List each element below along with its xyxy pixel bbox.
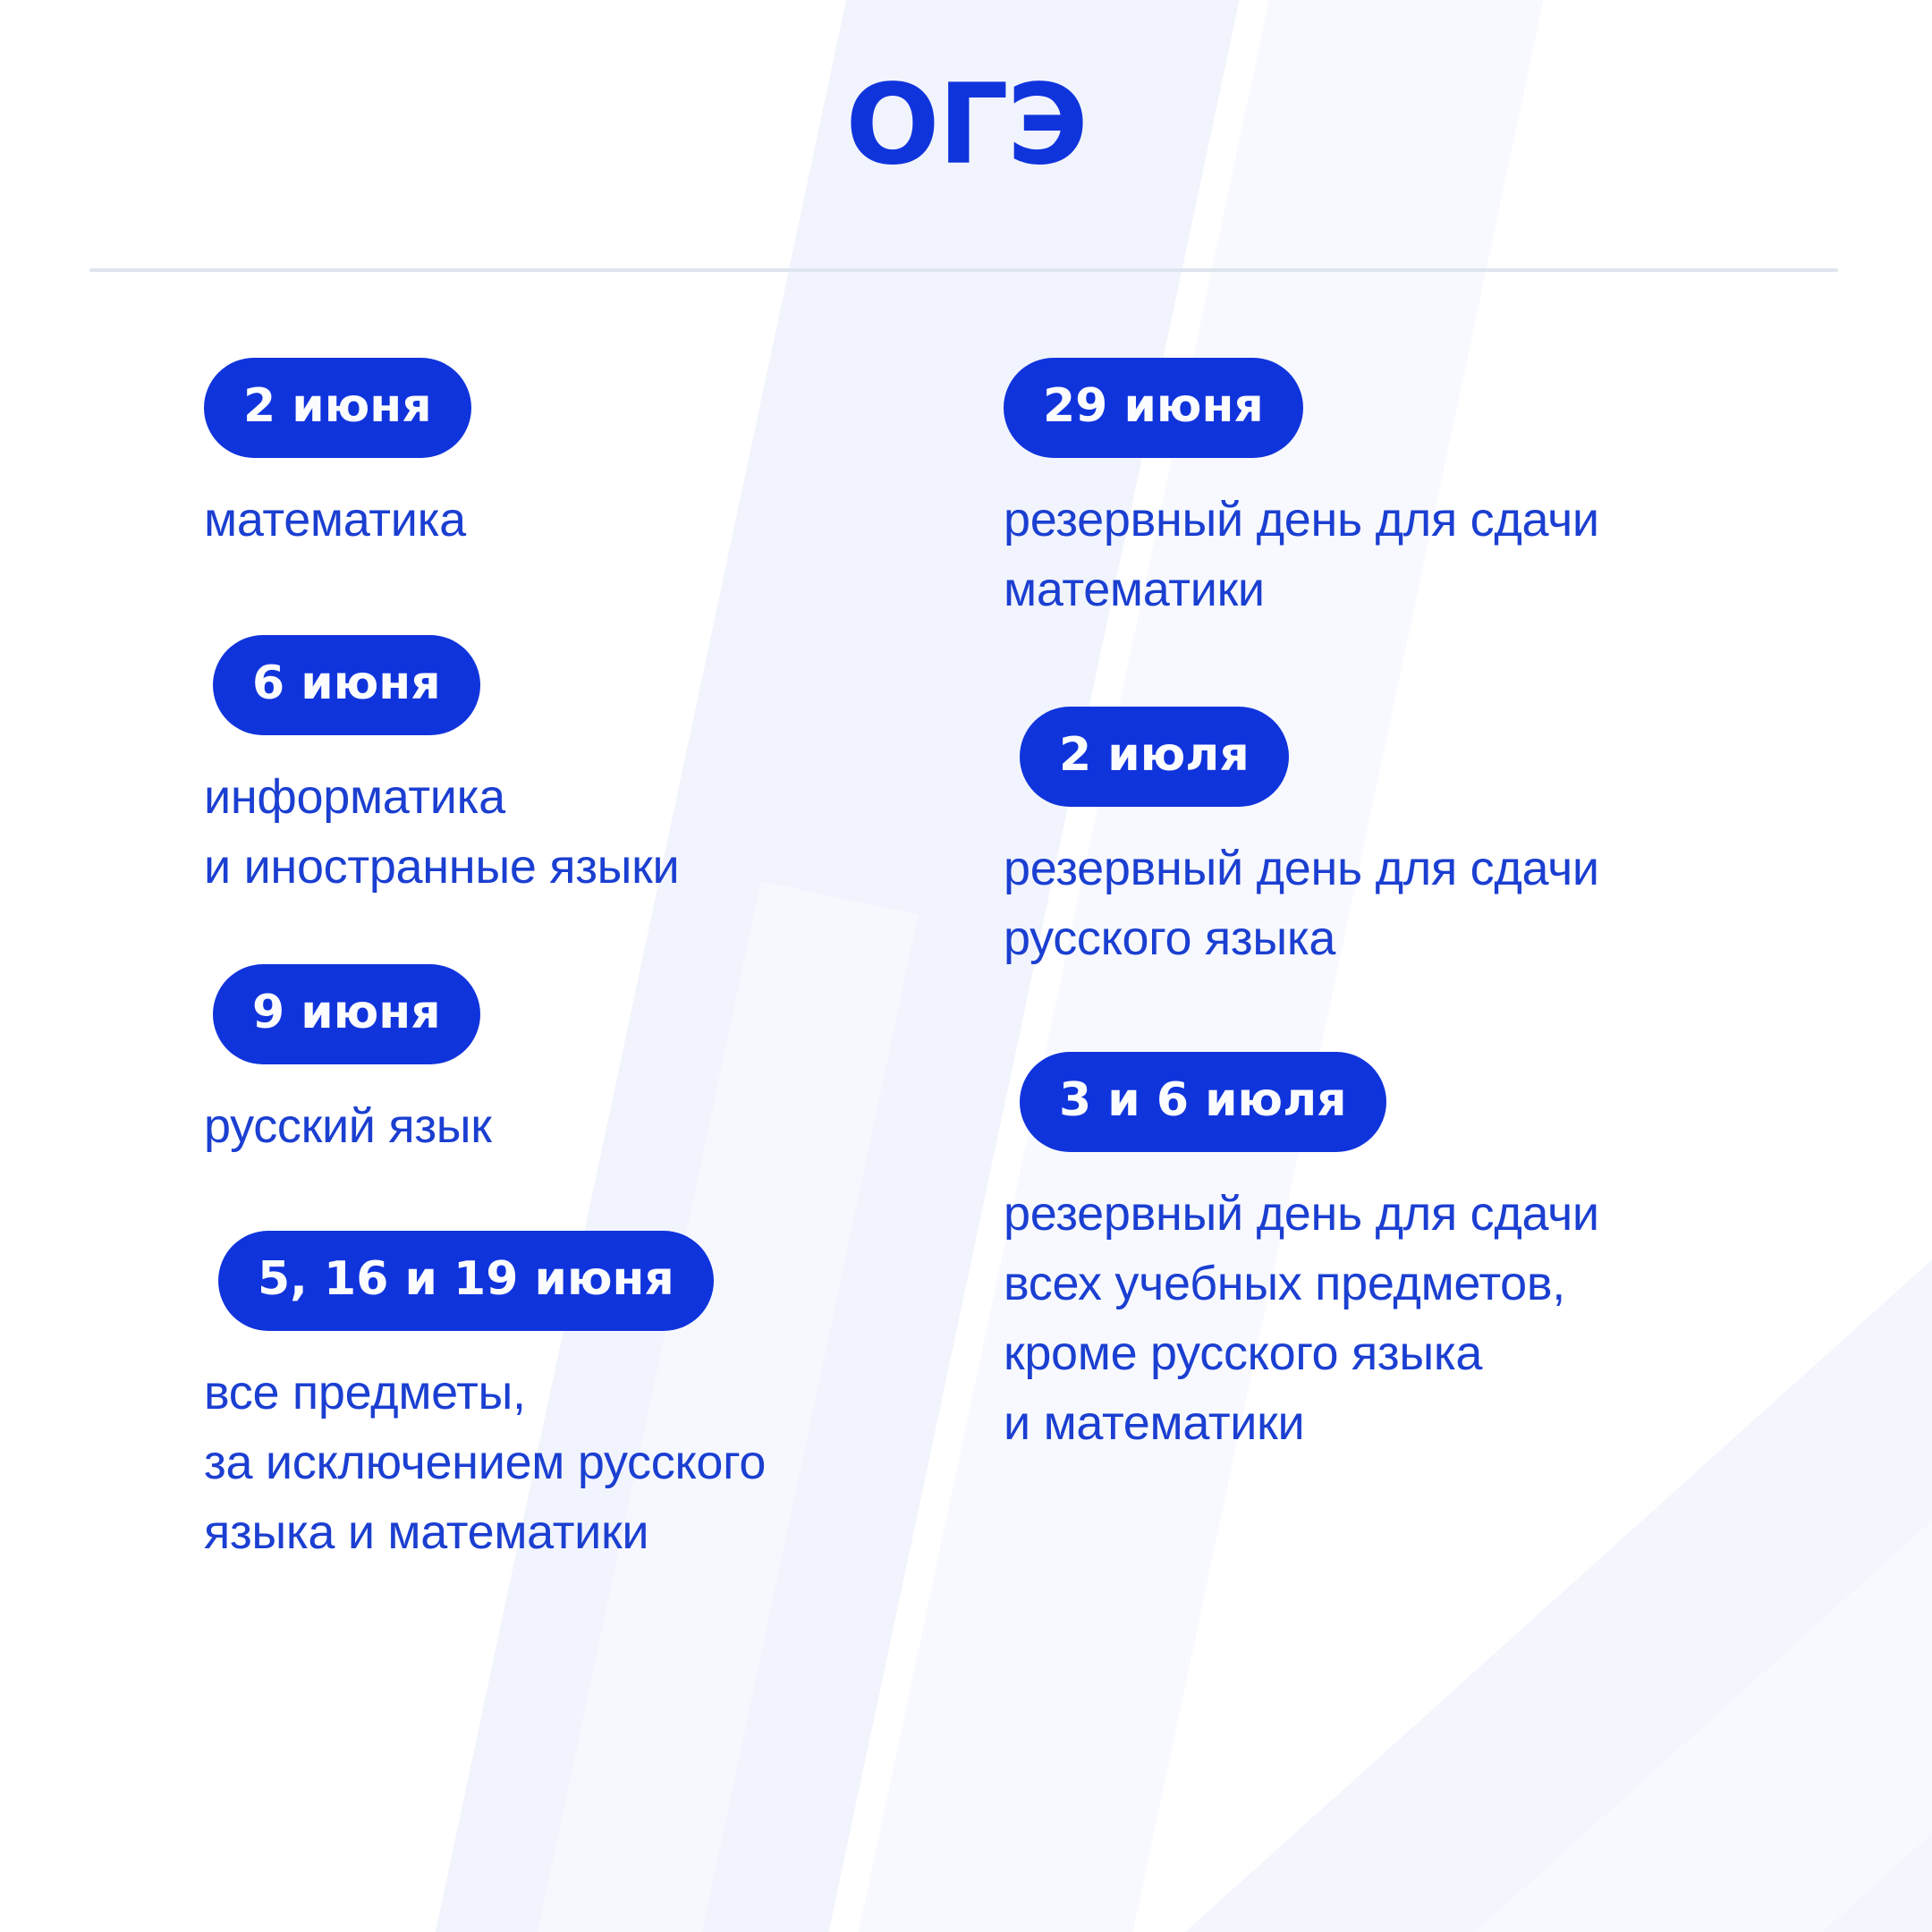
- subject-description: резервный день для сдачи математики: [1004, 485, 1746, 624]
- schedule-entry: 29 июня резервный день для сдачи математ…: [1004, 358, 1746, 624]
- schedule-entry: 9 июня русский язык: [213, 964, 919, 1161]
- schedule-entry: 2 июля резервный день для сдачи русского…: [1020, 707, 1746, 973]
- date-badge[interactable]: 9 июня: [213, 964, 480, 1064]
- poster-header: ОГЭ: [0, 0, 1932, 268]
- subject-description: все предметы, за исключением русского яз…: [204, 1358, 919, 1567]
- schedule-column-right: 29 июня резервный день для сдачи математ…: [1004, 358, 1746, 1458]
- date-badge[interactable]: 6 июня: [213, 635, 480, 735]
- schedule-entry: 3 и 6 июля резервный день для сдачи всех…: [1020, 1052, 1746, 1458]
- date-badge[interactable]: 3 и 6 июля: [1020, 1052, 1386, 1152]
- date-badge[interactable]: 5, 16 и 19 июня: [218, 1231, 714, 1331]
- date-badge[interactable]: 2 июня: [204, 358, 471, 458]
- schedule-entry: 5, 16 и 19 июня все предметы, за исключе…: [218, 1231, 919, 1567]
- page-title: ОГЭ: [0, 70, 1932, 181]
- schedule-entry: 6 июня информатика и иностранные языки: [213, 635, 919, 902]
- subject-description: математика: [204, 485, 919, 555]
- schedule-entry: 2 июня математика: [204, 358, 919, 555]
- date-badge[interactable]: 2 июля: [1020, 707, 1289, 807]
- poster-canvas: ОГЭ 2 июня математика 6 июня информатика…: [0, 0, 1932, 1932]
- date-badge[interactable]: 29 июня: [1004, 358, 1303, 458]
- header-divider: [89, 268, 1838, 272]
- subject-description: резервный день для сдачи всех учебных пр…: [1004, 1179, 1746, 1458]
- schedule-column-left: 2 июня математика 6 июня информатика и и…: [204, 358, 919, 1567]
- subject-description: информатика и иностранные языки: [204, 762, 919, 902]
- subject-description: русский язык: [204, 1091, 919, 1161]
- subject-description: резервный день для сдачи русского языка: [1004, 834, 1746, 973]
